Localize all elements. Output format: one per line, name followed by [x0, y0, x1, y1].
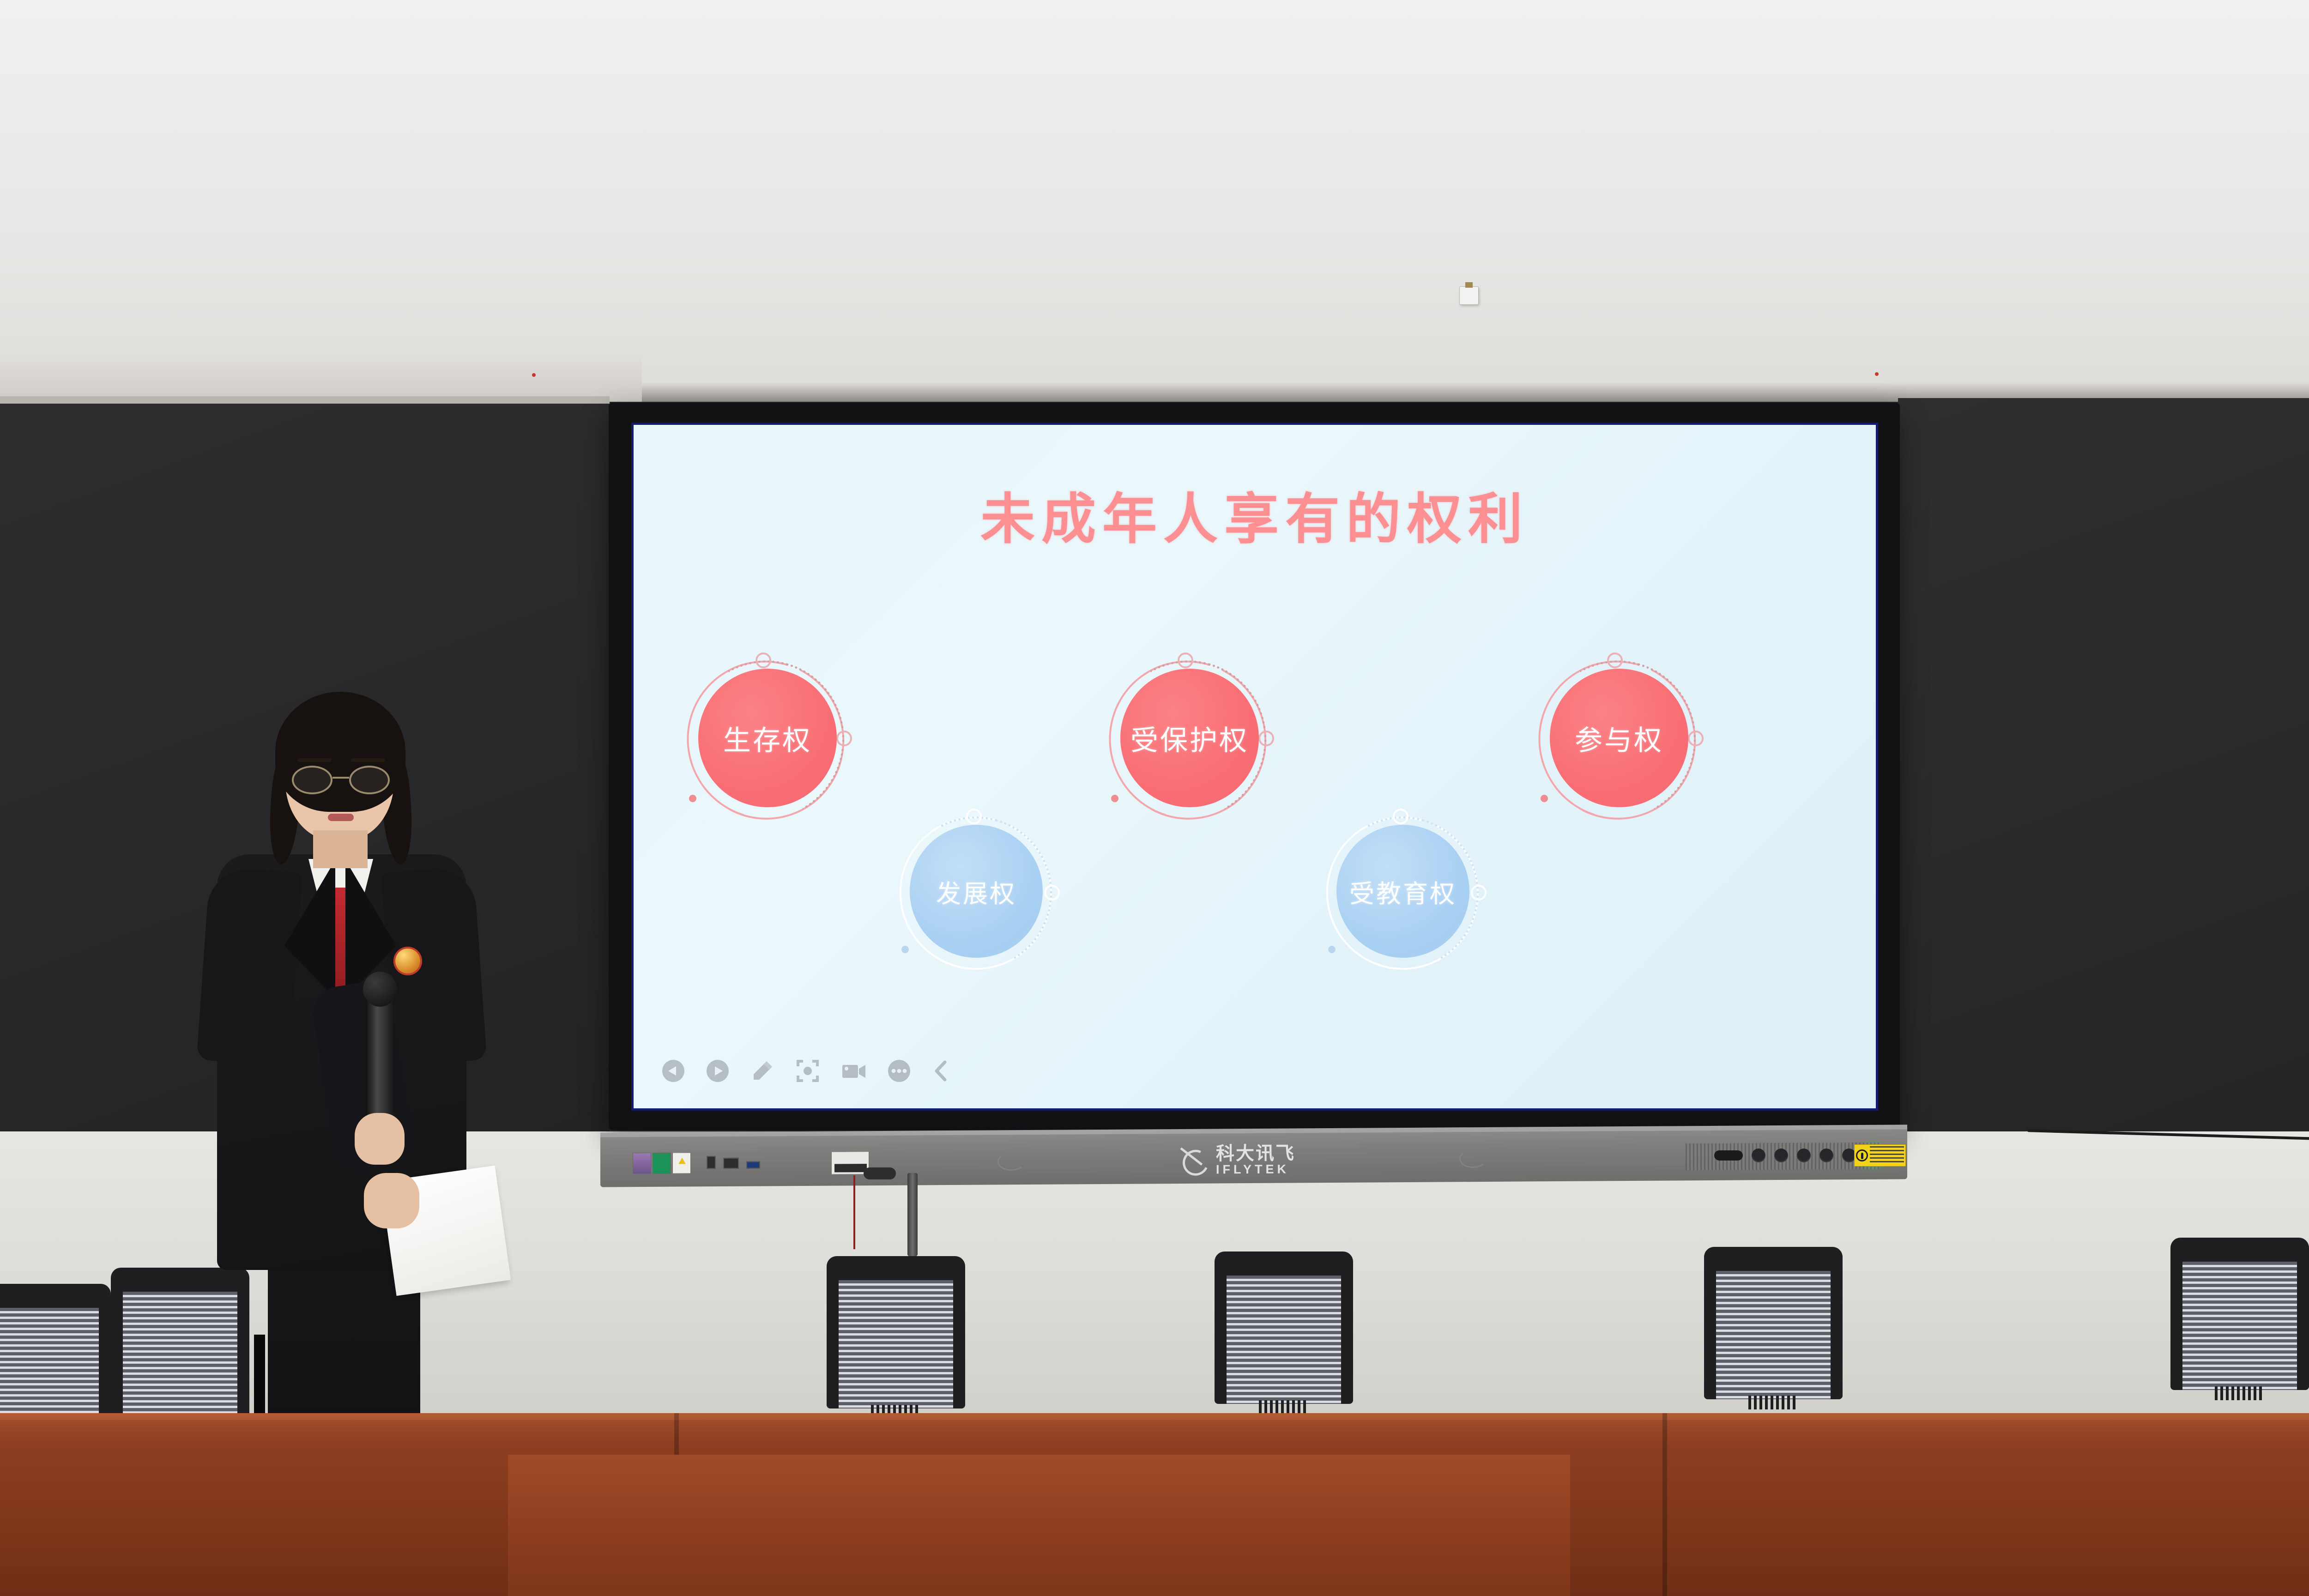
device-ports[interactable] [707, 1156, 760, 1169]
brand-name-en: IFLYTEK [1216, 1162, 1289, 1176]
more-options-icon[interactable] [887, 1058, 912, 1083]
bubble-survival-right[interactable]: 生存权 [698, 669, 837, 807]
conference-table-front [508, 1455, 1570, 1596]
video-record-icon[interactable] [840, 1058, 866, 1083]
bubble-label: 受教育权 [1349, 873, 1457, 910]
volume-down-button[interactable] [1797, 1149, 1811, 1162]
iflytek-logo: 科大讯飞 IFLYTEK [1180, 1144, 1295, 1176]
chair [2170, 1238, 2309, 1390]
bubble-label: 生存权 [723, 718, 812, 758]
previous-slide-icon[interactable] [661, 1059, 685, 1083]
wall-bracket-icon [1459, 286, 1479, 305]
presentation-slide[interactable]: 未成年人享有的权利 生存权 受保护权 参与权 [634, 425, 1876, 1108]
chair [1704, 1247, 1843, 1399]
bubble-label: 发展权 [936, 873, 1016, 910]
glasses-icon [292, 766, 390, 794]
classroom-scene: 未成年人享有的权利 生存权 受保护权 参与权 [0, 0, 2309, 1596]
ir-receiver-icon [1714, 1150, 1743, 1161]
next-slide-icon[interactable] [706, 1059, 730, 1083]
bubble-label: 参与权 [1575, 718, 1663, 758]
bubble-development-right[interactable]: 发展权 [910, 825, 1043, 958]
volume-up-button[interactable] [1819, 1149, 1833, 1162]
wall-marker-dot [532, 373, 536, 377]
warning-sticker [1854, 1144, 1906, 1167]
presenter-hand [355, 1113, 405, 1165]
chair [1215, 1251, 1353, 1404]
pen-annotate-icon[interactable] [750, 1058, 775, 1083]
handheld-microphone [366, 988, 394, 1127]
warning-icon [1856, 1149, 1868, 1161]
bubble-education-right[interactable]: 受教育权 [1336, 825, 1469, 958]
slide-toolbar[interactable] [657, 1054, 955, 1088]
court-emblem-badge [393, 947, 422, 975]
source-button[interactable] [1774, 1149, 1788, 1162]
ceiling [0, 0, 2309, 406]
presenter [185, 707, 517, 1492]
right-blackboard-panel [1898, 398, 2309, 1132]
bubble-protection-right[interactable]: 受保护权 [1120, 669, 1259, 807]
presenter-hand [364, 1173, 419, 1228]
device-wire [853, 1175, 855, 1249]
stylus-holder [864, 1167, 896, 1179]
screenshot-capture-icon[interactable] [795, 1058, 820, 1083]
iflytek-mark-icon [1180, 1147, 1209, 1174]
brand-name-cn: 科大讯飞 [1216, 1143, 1295, 1164]
collapse-toolbar-icon[interactable] [932, 1058, 950, 1083]
chair [827, 1256, 965, 1409]
slide-title: 未成年人享有的权利 [634, 475, 1876, 554]
wall-marker-dot [1875, 372, 1879, 376]
bubble-participation-right[interactable]: 参与权 [1550, 669, 1688, 807]
menu-button[interactable] [1752, 1149, 1765, 1162]
display-lower-bezel: 科大讯飞 IFLYTEK [600, 1124, 1907, 1187]
stylus-pen[interactable] [907, 1173, 918, 1256]
bubble-label: 受保护权 [1130, 718, 1249, 758]
device-stickers [633, 1152, 691, 1174]
